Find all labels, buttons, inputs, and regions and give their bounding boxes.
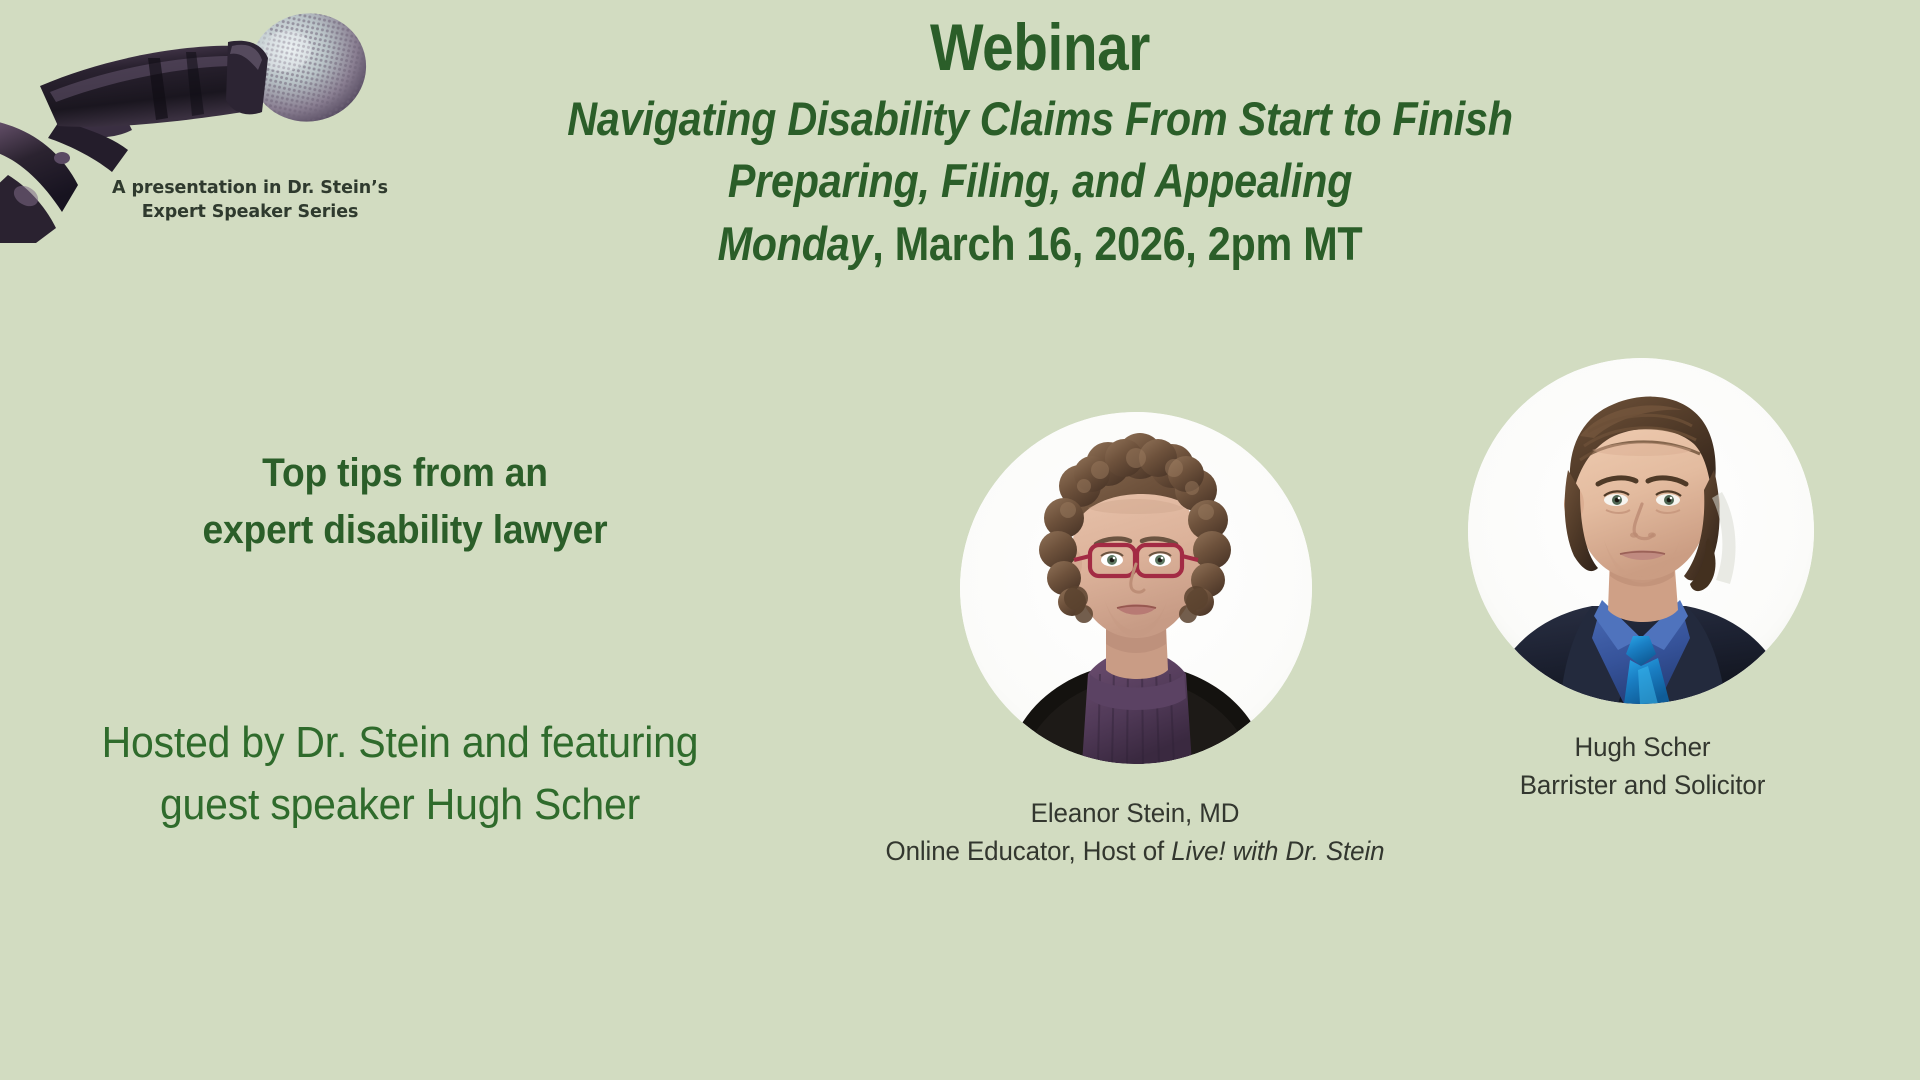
mic-caption-line-2: Expert Speaker Series bbox=[100, 200, 400, 224]
event-day: Monday bbox=[718, 217, 873, 270]
speaker-role-prefix-eleanor: Online Educator, Host of bbox=[886, 836, 1172, 866]
tips-line-1: Top tips from an bbox=[126, 445, 684, 502]
caption-eleanor-stein: Eleanor Stein, MD Online Educator, Host … bbox=[833, 794, 1438, 871]
speaker-role-hugh: Barrister and Solicitor bbox=[1477, 766, 1808, 804]
portrait-hugh-scher bbox=[1468, 358, 1814, 704]
header: Webinar Navigating Disability Claims Fro… bbox=[420, 12, 1660, 274]
webinar-slide: A presentation in Dr. Stein’s Expert Spe… bbox=[0, 0, 1920, 1080]
speaker-role-eleanor: Online Educator, Host of Live! with Dr. … bbox=[833, 832, 1438, 870]
event-date: Monday, March 16, 2026, 2pm MT bbox=[494, 214, 1585, 274]
event-date-rest: , March 16, 2026, 2pm MT bbox=[872, 217, 1362, 270]
portrait-eleanor-stein bbox=[960, 412, 1312, 764]
mic-banner-caption: A presentation in Dr. Stein’s Expert Spe… bbox=[100, 176, 400, 224]
hosted-line-1: Hosted by Dr. Stein and featuring bbox=[75, 712, 726, 774]
hosted-line-2: guest speaker Hugh Scher bbox=[75, 774, 726, 836]
page-title: Webinar bbox=[507, 12, 1573, 83]
caption-hugh-scher: Hugh Scher Barrister and Solicitor bbox=[1477, 728, 1808, 805]
tips-headline: Top tips from an expert disability lawye… bbox=[126, 445, 684, 559]
speaker-role-italic-eleanor: Live! with Dr. Stein bbox=[1171, 836, 1384, 866]
hosted-by-text: Hosted by Dr. Stein and featuring guest … bbox=[75, 712, 726, 837]
mic-banner: A presentation in Dr. Stein’s Expert Spe… bbox=[0, 0, 420, 250]
subtitle-line-1: Navigating Disability Claims From Start … bbox=[494, 89, 1585, 149]
speaker-name-eleanor: Eleanor Stein, MD bbox=[833, 794, 1438, 832]
mic-caption-line-1: A presentation in Dr. Stein’s bbox=[100, 176, 400, 200]
subtitle-line-2: Preparing, Filing, and Appealing bbox=[494, 151, 1585, 211]
tips-line-2: expert disability lawyer bbox=[126, 502, 684, 559]
speaker-name-hugh: Hugh Scher bbox=[1477, 728, 1808, 766]
